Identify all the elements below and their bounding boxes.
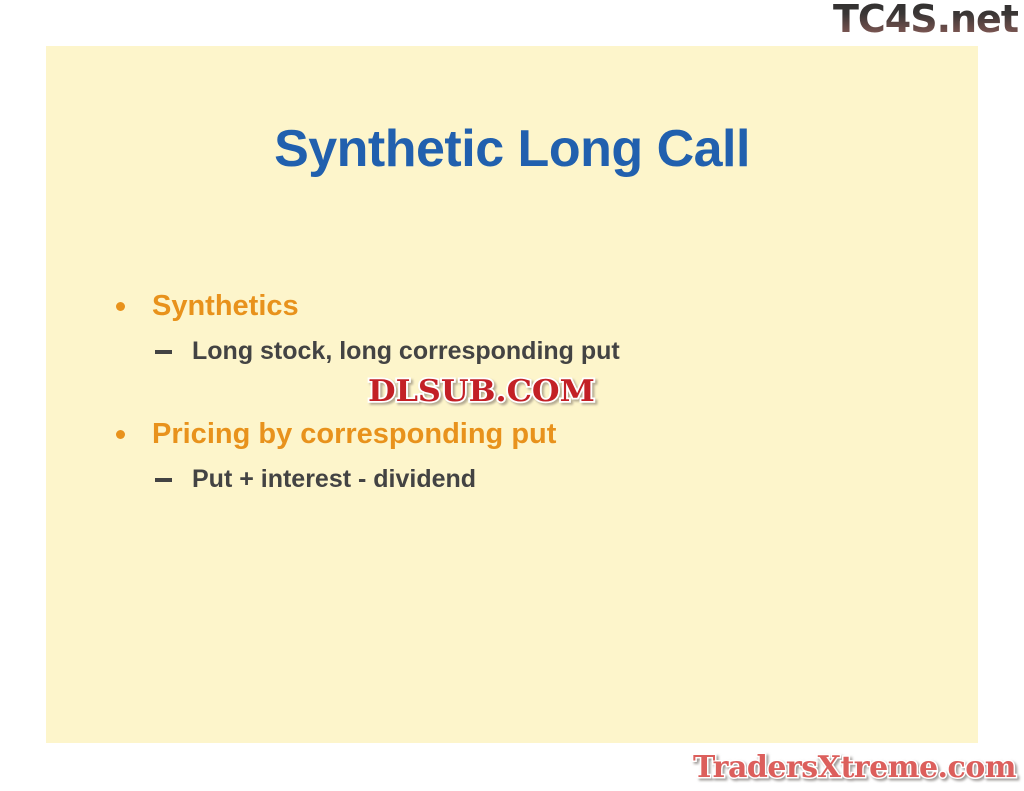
list-item-level2: Put + interest - dividend [108,467,958,492]
dlsub-watermark: DLSUB.COM [368,374,595,409]
list-item-level2: Long stock, long corresponding put [108,339,958,364]
bullet-dot-icon [116,430,125,439]
tc4s-net-logo: TC4S.net [833,0,1018,41]
list-item-level1: Synthetics [108,292,958,321]
dash-marker-icon [155,478,172,482]
list-item-label: Pricing by corresponding put [152,418,556,450]
dash-marker-icon [155,350,172,354]
page-title: Synthetic Long Call [46,122,978,177]
list-item-label: Synthetics [152,290,299,322]
bullet-dot-icon [116,302,125,311]
slide-page: TC4S.net TC4S.net Synthetic Long Call Sy… [0,0,1024,791]
list-item-level1: Pricing by corresponding put [108,420,958,449]
bullet-group-1: Synthetics Long stock, long correspondin… [108,292,958,364]
list-item-label: Long stock, long corresponding put [192,337,620,365]
tradersxtreme-watermark: TradersXtreme.com [693,750,1016,785]
bullet-group-2: Pricing by corresponding put Put + inter… [108,420,958,492]
list-item-label: Put + interest - dividend [192,465,476,493]
